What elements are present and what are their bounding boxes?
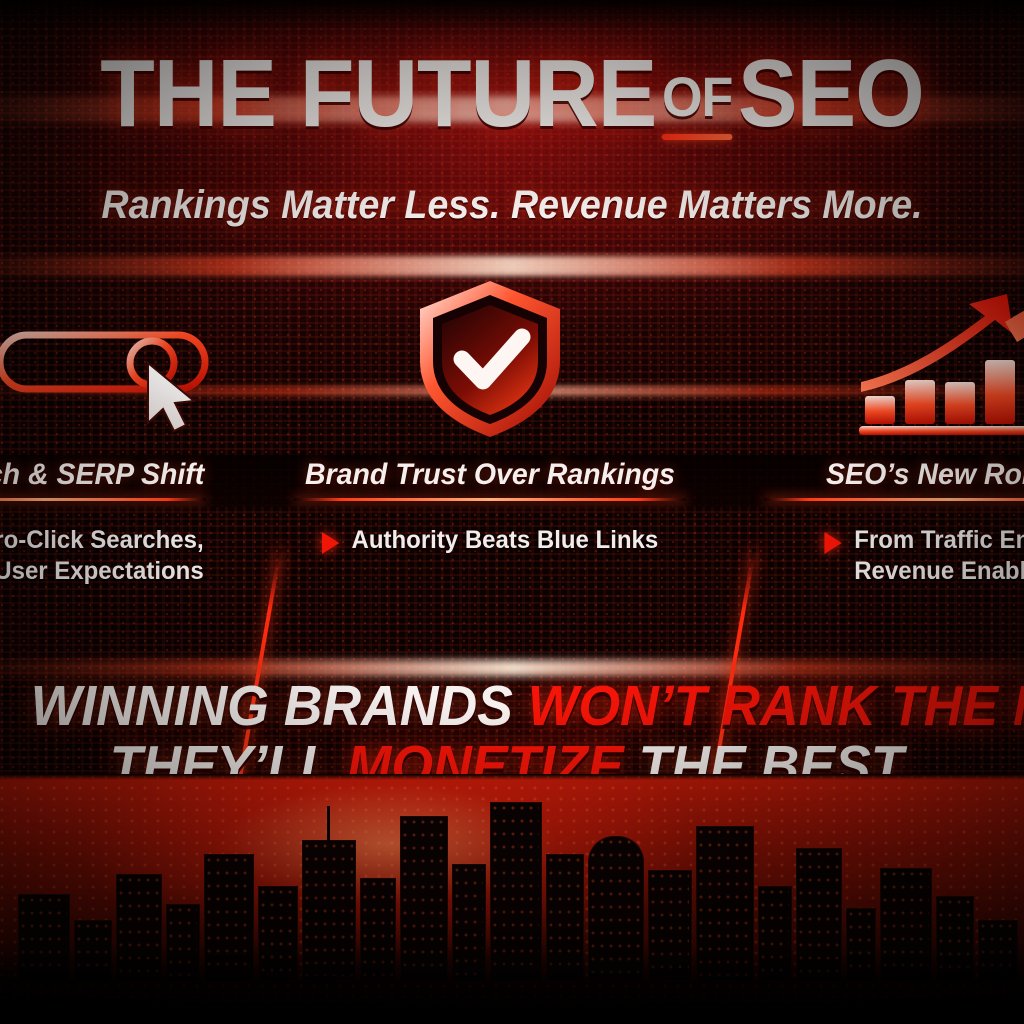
vignette-overlay [0,0,1024,1024]
infographic-poster: THE FUTUREOFSEO Rankings Matter Less. Re… [0,0,1024,1024]
